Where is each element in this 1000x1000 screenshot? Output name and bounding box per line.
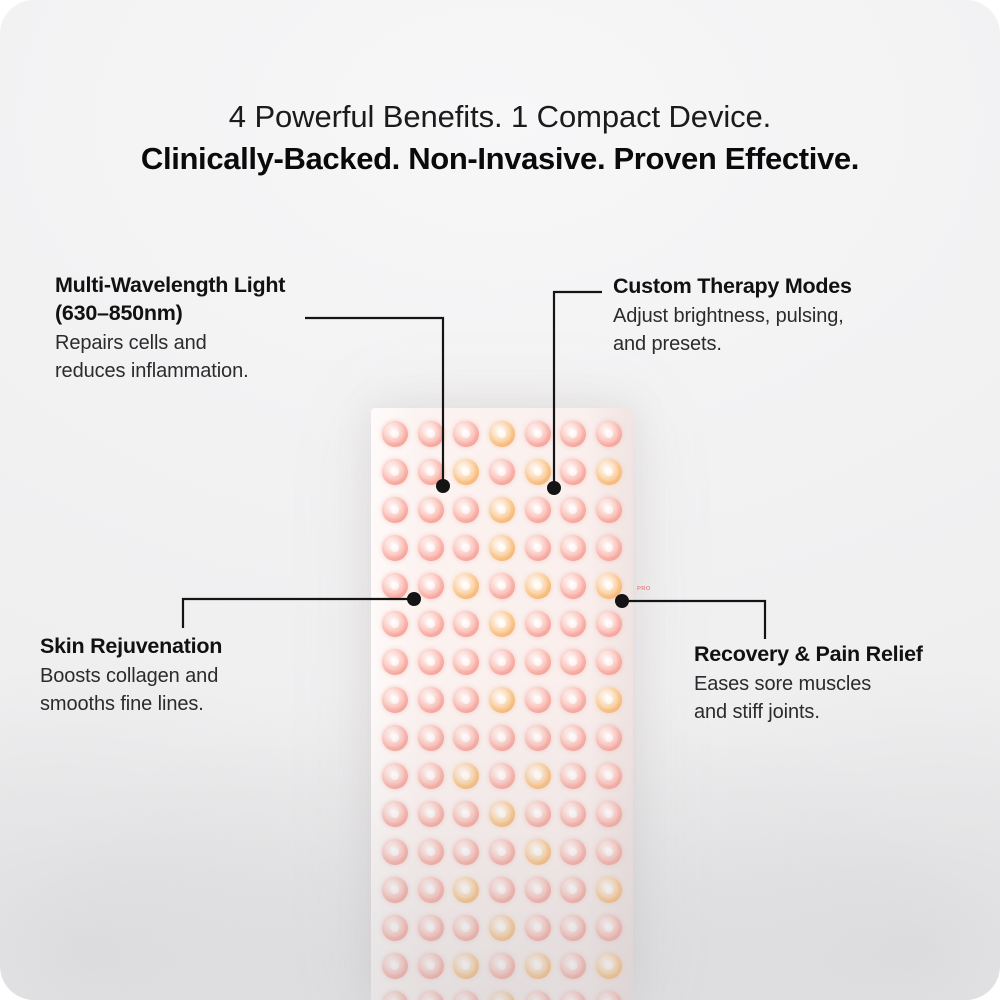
led-orange xyxy=(525,459,551,485)
led-pink xyxy=(560,725,586,751)
led-pink xyxy=(418,953,444,979)
led-pink xyxy=(453,649,479,675)
led-core xyxy=(427,430,435,438)
led-pink xyxy=(382,915,408,941)
led-orange xyxy=(596,687,622,713)
led-orange xyxy=(489,535,515,561)
callout-title: Recovery & Pain Relief xyxy=(694,641,994,669)
callout-custom-therapy-modes: Custom Therapy Modes Adjust brightness, … xyxy=(613,273,973,359)
callout-title: Custom Therapy Modes xyxy=(613,273,973,301)
led-core xyxy=(498,582,506,590)
led-core xyxy=(498,658,506,666)
led-pink xyxy=(418,725,444,751)
led-core xyxy=(534,886,542,894)
led-pink xyxy=(418,421,444,447)
led-core xyxy=(427,810,435,818)
led-pink xyxy=(382,649,408,675)
callout-multi-wavelength-light: Multi-Wavelength Light (630–850nm) Repai… xyxy=(55,272,385,386)
led-core xyxy=(498,848,506,856)
led-core xyxy=(498,962,506,970)
led-core xyxy=(498,430,506,438)
led-core xyxy=(427,506,435,514)
led-core xyxy=(498,810,506,818)
led-core xyxy=(534,658,542,666)
led-core xyxy=(391,506,399,514)
led-pink xyxy=(418,915,444,941)
led-core xyxy=(534,544,542,552)
led-orange xyxy=(489,611,515,637)
led-pink xyxy=(382,839,408,865)
led-core xyxy=(427,696,435,704)
led-pink xyxy=(453,687,479,713)
led-core xyxy=(498,544,506,552)
connector-recovery xyxy=(624,601,765,639)
led-core xyxy=(534,582,542,590)
led-core xyxy=(534,506,542,514)
panel-brand-mark: PRO xyxy=(637,586,651,591)
led-core xyxy=(391,886,399,894)
led-pink xyxy=(418,877,444,903)
led-pink xyxy=(560,421,586,447)
led-core xyxy=(498,468,506,476)
led-pink xyxy=(382,611,408,637)
led-orange xyxy=(596,877,622,903)
led-orange xyxy=(453,573,479,599)
led-core xyxy=(498,924,506,932)
headline-line-2: Clinically-Backed. Non-Invasive. Proven … xyxy=(0,137,1000,181)
callout-body: Eases sore muscles and stiff joints. xyxy=(694,670,994,727)
led-pink xyxy=(453,535,479,561)
callout-recovery-pain-relief: Recovery & Pain Relief Eases sore muscle… xyxy=(694,641,994,727)
led-orange xyxy=(489,915,515,941)
led-grid xyxy=(371,408,633,1000)
led-pink xyxy=(596,801,622,827)
led-pink xyxy=(489,573,515,599)
led-orange xyxy=(489,497,515,523)
led-pink xyxy=(560,915,586,941)
led-pink xyxy=(382,991,408,1000)
led-pink xyxy=(596,915,622,941)
led-pink xyxy=(382,459,408,485)
led-core xyxy=(391,544,399,552)
infographic-canvas: 4 Powerful Benefits. 1 Compact Device. C… xyxy=(0,0,1000,1000)
led-core xyxy=(427,658,435,666)
led-pink xyxy=(453,497,479,523)
led-pink xyxy=(382,421,408,447)
led-pink xyxy=(382,573,408,599)
led-pink xyxy=(525,725,551,751)
led-pink xyxy=(382,535,408,561)
led-pink xyxy=(418,497,444,523)
led-core xyxy=(427,620,435,628)
led-pink xyxy=(418,687,444,713)
led-orange xyxy=(453,877,479,903)
led-pink xyxy=(596,535,622,561)
headline-line-1: 4 Powerful Benefits. 1 Compact Device. xyxy=(0,97,1000,137)
led-pink xyxy=(560,573,586,599)
led-pink xyxy=(418,573,444,599)
led-pink xyxy=(418,535,444,561)
led-pink xyxy=(525,649,551,675)
led-pink xyxy=(453,725,479,751)
led-pink xyxy=(525,687,551,713)
led-pink xyxy=(489,725,515,751)
led-core xyxy=(391,430,399,438)
led-pink xyxy=(560,497,586,523)
led-pink xyxy=(596,649,622,675)
callout-body: Boosts collagen and smooths fine lines. xyxy=(40,662,370,719)
led-pink xyxy=(560,763,586,789)
led-core xyxy=(427,582,435,590)
led-core xyxy=(498,506,506,514)
led-pink xyxy=(418,459,444,485)
led-orange xyxy=(596,573,622,599)
led-pink xyxy=(453,915,479,941)
led-pink xyxy=(453,839,479,865)
callout-title: Skin Rejuvenation xyxy=(40,633,370,661)
led-pink xyxy=(560,839,586,865)
led-core xyxy=(534,430,542,438)
led-pink xyxy=(453,801,479,827)
led-orange xyxy=(596,953,622,979)
led-pink xyxy=(596,763,622,789)
led-core xyxy=(391,468,399,476)
callout-skin-rejuvenation: Skin Rejuvenation Boosts collagen and sm… xyxy=(40,633,370,719)
led-pink xyxy=(453,611,479,637)
led-pink xyxy=(560,611,586,637)
led-pink xyxy=(525,915,551,941)
led-core xyxy=(391,582,399,590)
led-orange xyxy=(489,801,515,827)
led-core xyxy=(391,734,399,742)
led-pink xyxy=(382,687,408,713)
led-core xyxy=(391,658,399,666)
led-orange xyxy=(453,953,479,979)
led-pink xyxy=(525,497,551,523)
led-pink xyxy=(453,421,479,447)
led-core xyxy=(427,468,435,476)
led-pink xyxy=(489,649,515,675)
led-core xyxy=(391,924,399,932)
led-core xyxy=(391,810,399,818)
led-pink xyxy=(560,535,586,561)
led-core xyxy=(498,886,506,894)
led-pink xyxy=(525,801,551,827)
led-orange xyxy=(525,573,551,599)
led-pink xyxy=(489,839,515,865)
led-core xyxy=(534,962,542,970)
led-pink xyxy=(418,611,444,637)
callout-title: Multi-Wavelength Light (630–850nm) xyxy=(55,272,385,328)
led-core xyxy=(498,620,506,628)
callout-body: Repairs cells and reduces inflammation. xyxy=(55,329,385,386)
page-title: 4 Powerful Benefits. 1 Compact Device. C… xyxy=(0,97,1000,181)
led-pink xyxy=(418,763,444,789)
led-orange xyxy=(489,687,515,713)
led-pink xyxy=(596,725,622,751)
led-pink xyxy=(525,877,551,903)
callout-body: Adjust brightness, pulsing, and presets. xyxy=(613,302,973,359)
led-pink xyxy=(382,497,408,523)
led-pink xyxy=(382,801,408,827)
led-pink xyxy=(489,459,515,485)
led-pink xyxy=(489,763,515,789)
led-pink xyxy=(418,991,444,1000)
led-pink xyxy=(382,763,408,789)
led-pink xyxy=(596,991,622,1000)
led-core xyxy=(534,734,542,742)
led-orange xyxy=(489,991,515,1000)
red-light-therapy-panel xyxy=(371,408,633,1000)
led-pink xyxy=(382,877,408,903)
led-core xyxy=(534,468,542,476)
led-pink xyxy=(418,801,444,827)
led-pink xyxy=(596,497,622,523)
led-core xyxy=(391,962,399,970)
led-orange xyxy=(525,839,551,865)
led-pink xyxy=(560,877,586,903)
led-pink xyxy=(418,649,444,675)
led-core xyxy=(534,848,542,856)
led-core xyxy=(534,924,542,932)
led-pink xyxy=(596,421,622,447)
led-pink xyxy=(596,839,622,865)
led-orange xyxy=(525,763,551,789)
led-pink xyxy=(489,953,515,979)
led-pink xyxy=(382,953,408,979)
led-pink xyxy=(596,611,622,637)
led-pink xyxy=(382,725,408,751)
led-core xyxy=(391,848,399,856)
led-core xyxy=(498,734,506,742)
led-pink xyxy=(560,687,586,713)
led-core xyxy=(534,696,542,704)
led-core xyxy=(534,620,542,628)
led-pink xyxy=(525,611,551,637)
led-pink xyxy=(560,649,586,675)
led-core xyxy=(427,886,435,894)
led-orange xyxy=(525,953,551,979)
led-core xyxy=(427,734,435,742)
led-pink xyxy=(560,801,586,827)
led-pink xyxy=(525,421,551,447)
led-orange xyxy=(596,459,622,485)
led-core xyxy=(498,696,506,704)
led-core xyxy=(391,696,399,704)
led-core xyxy=(498,772,506,780)
led-core xyxy=(427,848,435,856)
led-core xyxy=(427,924,435,932)
led-core xyxy=(391,772,399,780)
led-orange xyxy=(489,421,515,447)
led-pink xyxy=(525,991,551,1000)
led-core xyxy=(391,620,399,628)
led-pink xyxy=(453,991,479,1000)
led-pink xyxy=(489,877,515,903)
led-core xyxy=(534,810,542,818)
led-pink xyxy=(560,459,586,485)
led-core xyxy=(534,772,542,780)
led-core xyxy=(427,962,435,970)
led-pink xyxy=(560,953,586,979)
led-core xyxy=(427,544,435,552)
led-pink xyxy=(560,991,586,1000)
led-orange xyxy=(453,763,479,789)
led-core xyxy=(427,772,435,780)
led-pink xyxy=(418,839,444,865)
led-orange xyxy=(453,459,479,485)
led-pink xyxy=(525,535,551,561)
